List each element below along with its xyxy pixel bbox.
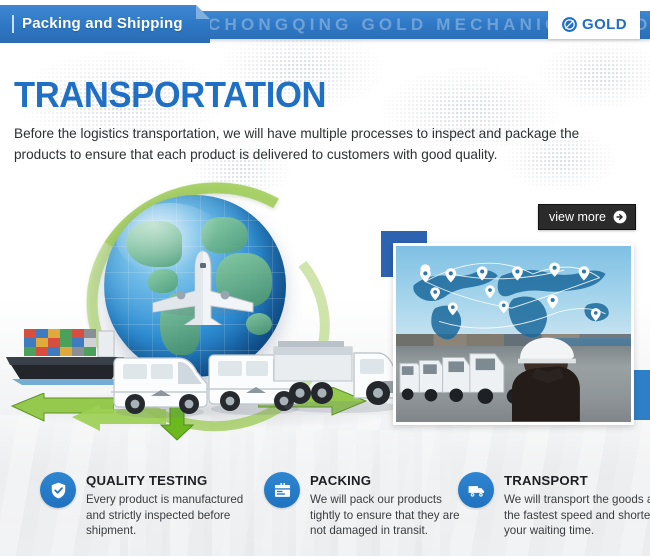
photo-manager-figure [506,330,586,422]
feature-icon-badge [264,472,300,508]
feature-packing: PACKING We will pack our products tightl… [264,462,464,556]
delivery-van-icon [105,330,215,420]
feature-transport: TRANSPORT We will transport the goods at… [458,462,648,556]
feature-title: TRANSPORT [504,473,588,488]
feature-icon-badge [458,472,494,508]
header-tab-accent-bar [12,15,14,33]
feature-title: PACKING [310,473,371,488]
page-title: TRANSPORTATION [14,75,326,115]
header-tab-label: Packing and Shipping [22,14,183,34]
page-header: CHONGQING GOLD MECHANICAL CHONGQING GOLD… [0,5,650,43]
brand-logo[interactable]: GOLD [548,9,640,39]
transportation-banner: CHONGQING GOLD MECHANICAL CHONGQING GOLD… [0,0,650,556]
feature-title: QUALITY TESTING [86,473,207,488]
brand-logo-text: GOLD [582,16,627,33]
logistics-illustration [0,175,420,445]
view-more-button[interactable]: view more [538,204,636,230]
feature-quality-testing: QUALITY TESTING Every product is manufac… [40,462,255,556]
gold-circle-slash-icon [561,16,578,33]
features-row: QUALITY TESTING Every product is manufac… [0,462,650,556]
feature-icon-badge [40,472,76,508]
delivery-truck-icon [467,481,486,500]
feature-body: We will transport the goods at the faste… [504,492,650,539]
view-more-label: view more [549,206,606,228]
airplane-icon [139,249,267,325]
feature-body: We will pack our products tightly to ens… [310,492,470,539]
feature-body: Every product is manufactured and strict… [86,492,256,539]
package-box-icon [273,481,292,500]
logistics-photo[interactable] [393,243,634,425]
page-description: Before the logistics transportation, we … [14,123,632,165]
shield-check-icon [49,481,68,500]
semi-truck-icon [270,323,410,415]
arrow-right-circle-icon [613,210,627,224]
